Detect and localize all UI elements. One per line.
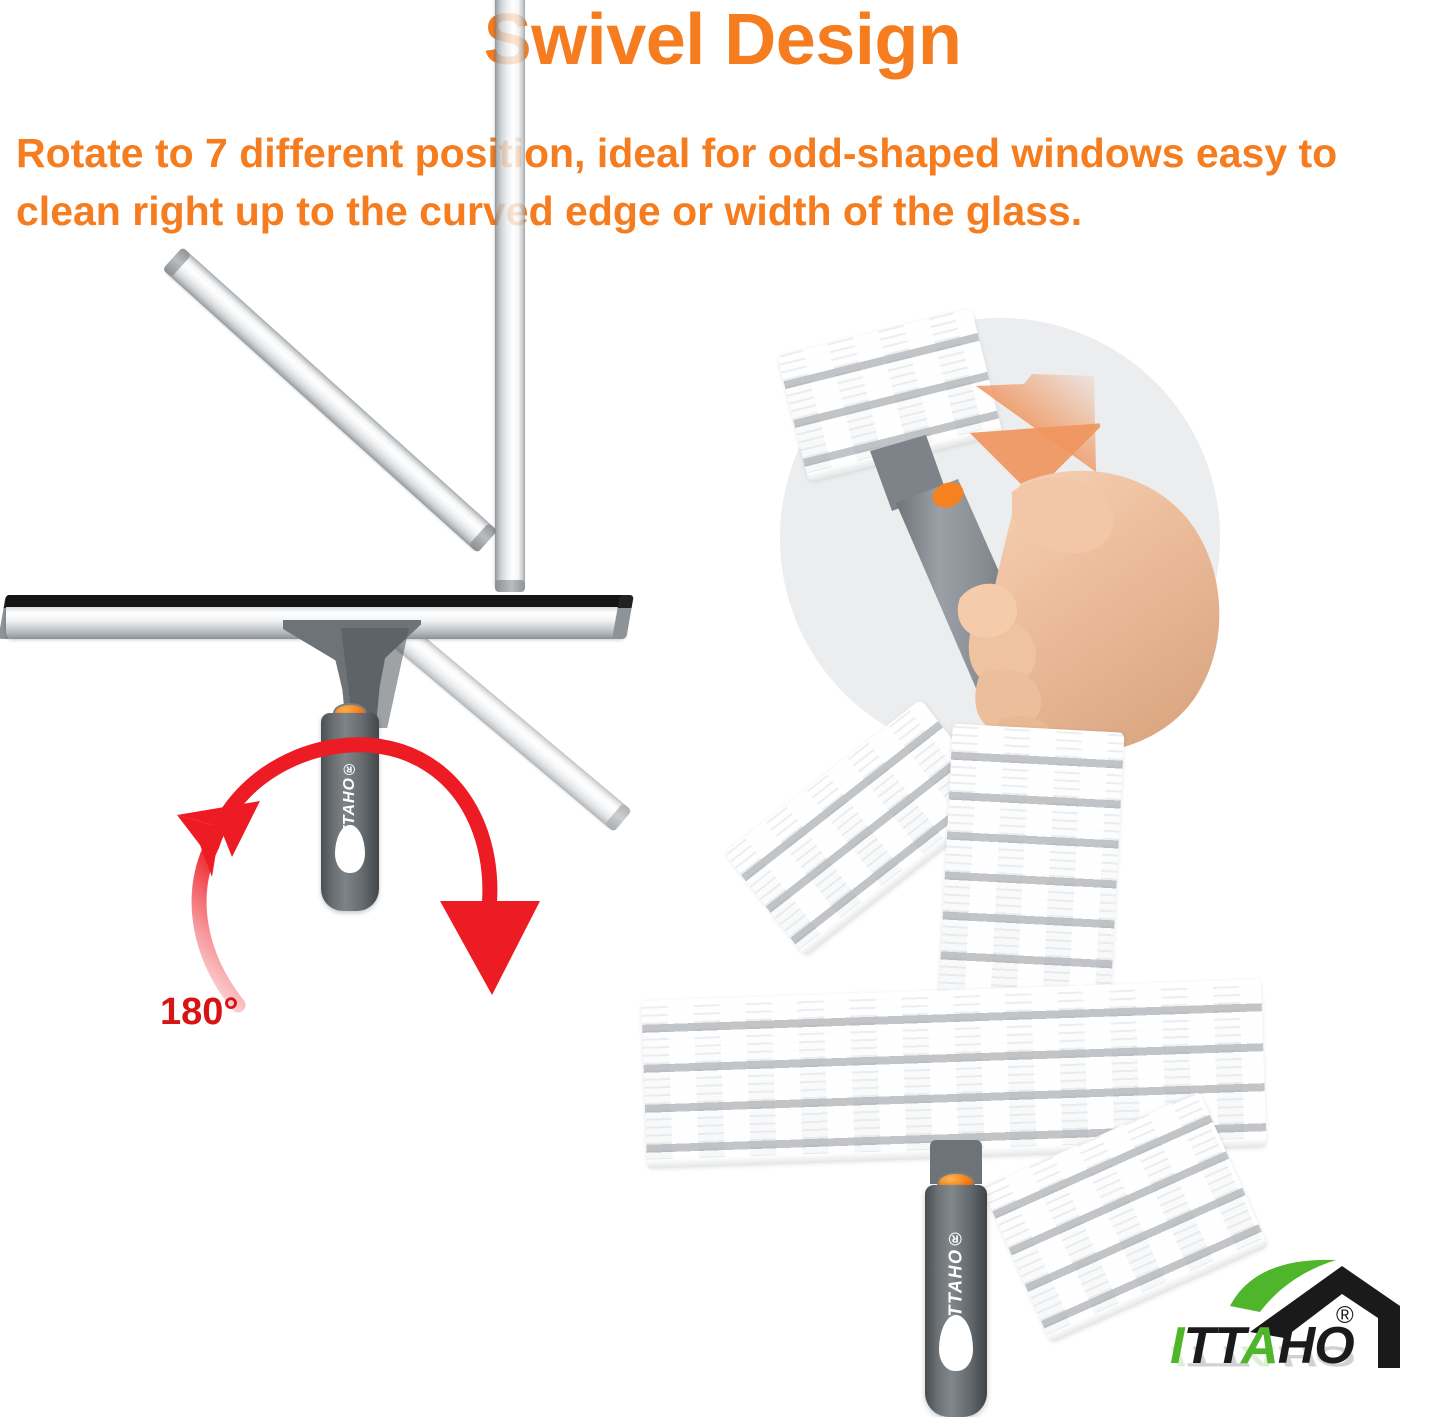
product-feature-image: Swivel Design Rotate to 7 different posi…	[0, 0, 1445, 1417]
headline-block: Swivel Design	[0, 0, 1445, 76]
page-title: Swivel Design	[0, 4, 1445, 76]
lower-handle-hang-hole	[939, 1315, 973, 1371]
lower-squeegee-handle: ITTAHO®	[925, 1185, 987, 1417]
rotation-angle-label: 180°	[160, 991, 239, 1034]
squeegee-blade-diagonal-upleft	[164, 248, 496, 551]
hand-photo-circle	[780, 318, 1220, 758]
logo-reflection: ITTAHO	[1170, 1341, 1354, 1370]
microfiber-pad-upper-right	[937, 724, 1124, 1025]
lower-handle-brand-label: ITTAHO®	[946, 1227, 967, 1323]
hand-holding-tool	[900, 448, 1230, 768]
page-subtitle: Rotate to 7 different position, ideal fo…	[16, 124, 1436, 240]
ittaho-logo: ITTAHO ® ITTAHO	[1168, 1258, 1438, 1408]
registered-trademark-mark: ®	[1336, 1302, 1354, 1330]
swivel-illustration: ITTAHO® 180°	[0, 285, 700, 985]
rotation-arrow-icon	[120, 705, 540, 1035]
squeegee-blade-vertical	[495, 0, 525, 590]
